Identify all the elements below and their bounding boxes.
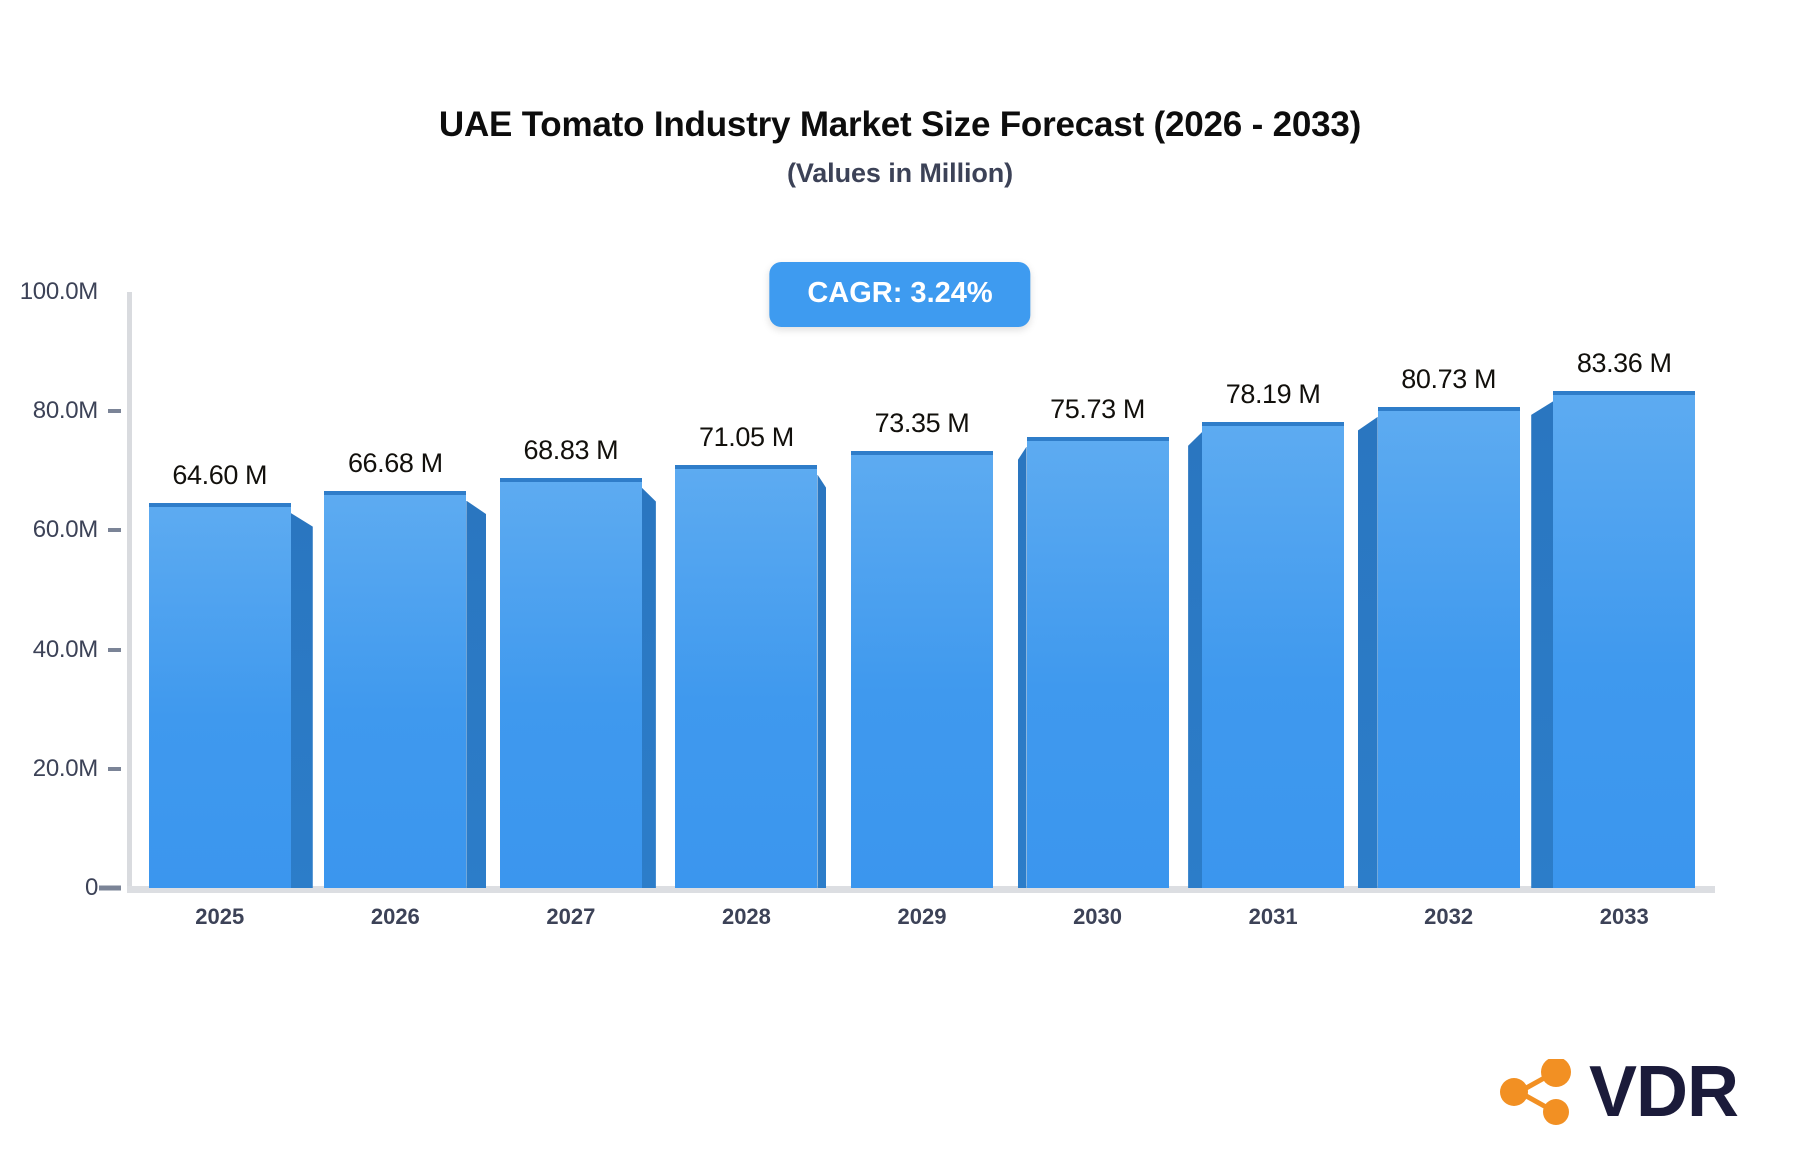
bar-value-label: 68.83 M	[523, 435, 618, 466]
x-axis-label: 2025	[195, 904, 244, 930]
bar: 64.60 M	[149, 503, 291, 888]
bar-side-face	[1188, 432, 1202, 888]
x-axis-label: 2033	[1600, 904, 1649, 930]
share-network-icon	[1499, 1059, 1577, 1125]
bar-value-label: 71.05 M	[699, 422, 794, 453]
x-axis-label: 2027	[546, 904, 595, 930]
bar-value-label: 73.35 M	[875, 408, 970, 439]
bar-front-face	[1027, 437, 1169, 888]
x-axis-label: 2031	[1249, 904, 1298, 930]
x-axis-label: 2029	[898, 904, 947, 930]
bar-side-face	[291, 513, 313, 888]
bar-side-face	[466, 501, 486, 888]
bar: 80.73 M	[1378, 407, 1520, 888]
logo-text: VDR	[1589, 1056, 1738, 1128]
bar-value-label: 64.60 M	[172, 460, 267, 491]
y-tick-label: 60.0M	[33, 516, 98, 544]
x-axis-label: 2026	[371, 904, 420, 930]
bar-value-label: 78.19 M	[1226, 379, 1321, 410]
bar: 66.68 M	[324, 491, 466, 888]
bar: 78.19 M	[1202, 422, 1344, 888]
bar-side-face	[817, 475, 826, 888]
bar: 83.36 M	[1553, 391, 1695, 888]
bar-side-face	[1018, 447, 1027, 888]
vdr-logo: VDR	[1499, 1056, 1738, 1128]
y-tick-mark	[99, 886, 121, 891]
bar-front-face	[500, 478, 642, 888]
y-tick-label: 20.0M	[33, 755, 98, 783]
y-tick-mark	[108, 528, 121, 532]
bar: 68.83 M	[500, 478, 642, 888]
bar-side-face	[1358, 417, 1378, 888]
x-axis-label: 2028	[722, 904, 771, 930]
bar-front-face	[675, 465, 817, 888]
bar-value-label: 75.73 M	[1050, 394, 1145, 425]
y-tick-mark	[108, 648, 121, 652]
bar: 71.05 M	[675, 465, 817, 888]
x-axis-label: 2030	[1073, 904, 1122, 930]
bar-value-label: 66.68 M	[348, 448, 443, 479]
bar: 73.35 M	[851, 451, 993, 888]
y-tick-label: 40.0M	[33, 636, 98, 664]
x-axis-label: 2032	[1424, 904, 1473, 930]
y-tick-mark	[108, 409, 121, 413]
bar-chart-plot: 020.0M40.0M60.0M80.0M100.0M 64.60 M66.68…	[0, 0, 1800, 1156]
bar-front-face	[324, 491, 466, 888]
y-tick-label: 80.0M	[33, 397, 98, 425]
bar: 75.73 M	[1027, 437, 1169, 888]
bar-value-label: 80.73 M	[1401, 364, 1496, 395]
bar-front-face	[1553, 391, 1695, 888]
y-tick-label: 100.0M	[20, 278, 98, 306]
bar-side-face	[642, 488, 656, 888]
y-tick-mark	[108, 767, 121, 771]
bar-front-face	[851, 451, 993, 888]
y-axis-line	[127, 292, 132, 888]
bar-side-face	[1531, 401, 1553, 888]
y-tick-label: 0	[85, 874, 98, 902]
bar-front-face	[1378, 407, 1520, 888]
bar-front-face	[1202, 422, 1344, 888]
chart-page: UAE Tomato Industry Market Size Forecast…	[0, 0, 1800, 1156]
bar-value-label: 83.36 M	[1577, 348, 1672, 379]
bar-front-face	[149, 503, 291, 888]
